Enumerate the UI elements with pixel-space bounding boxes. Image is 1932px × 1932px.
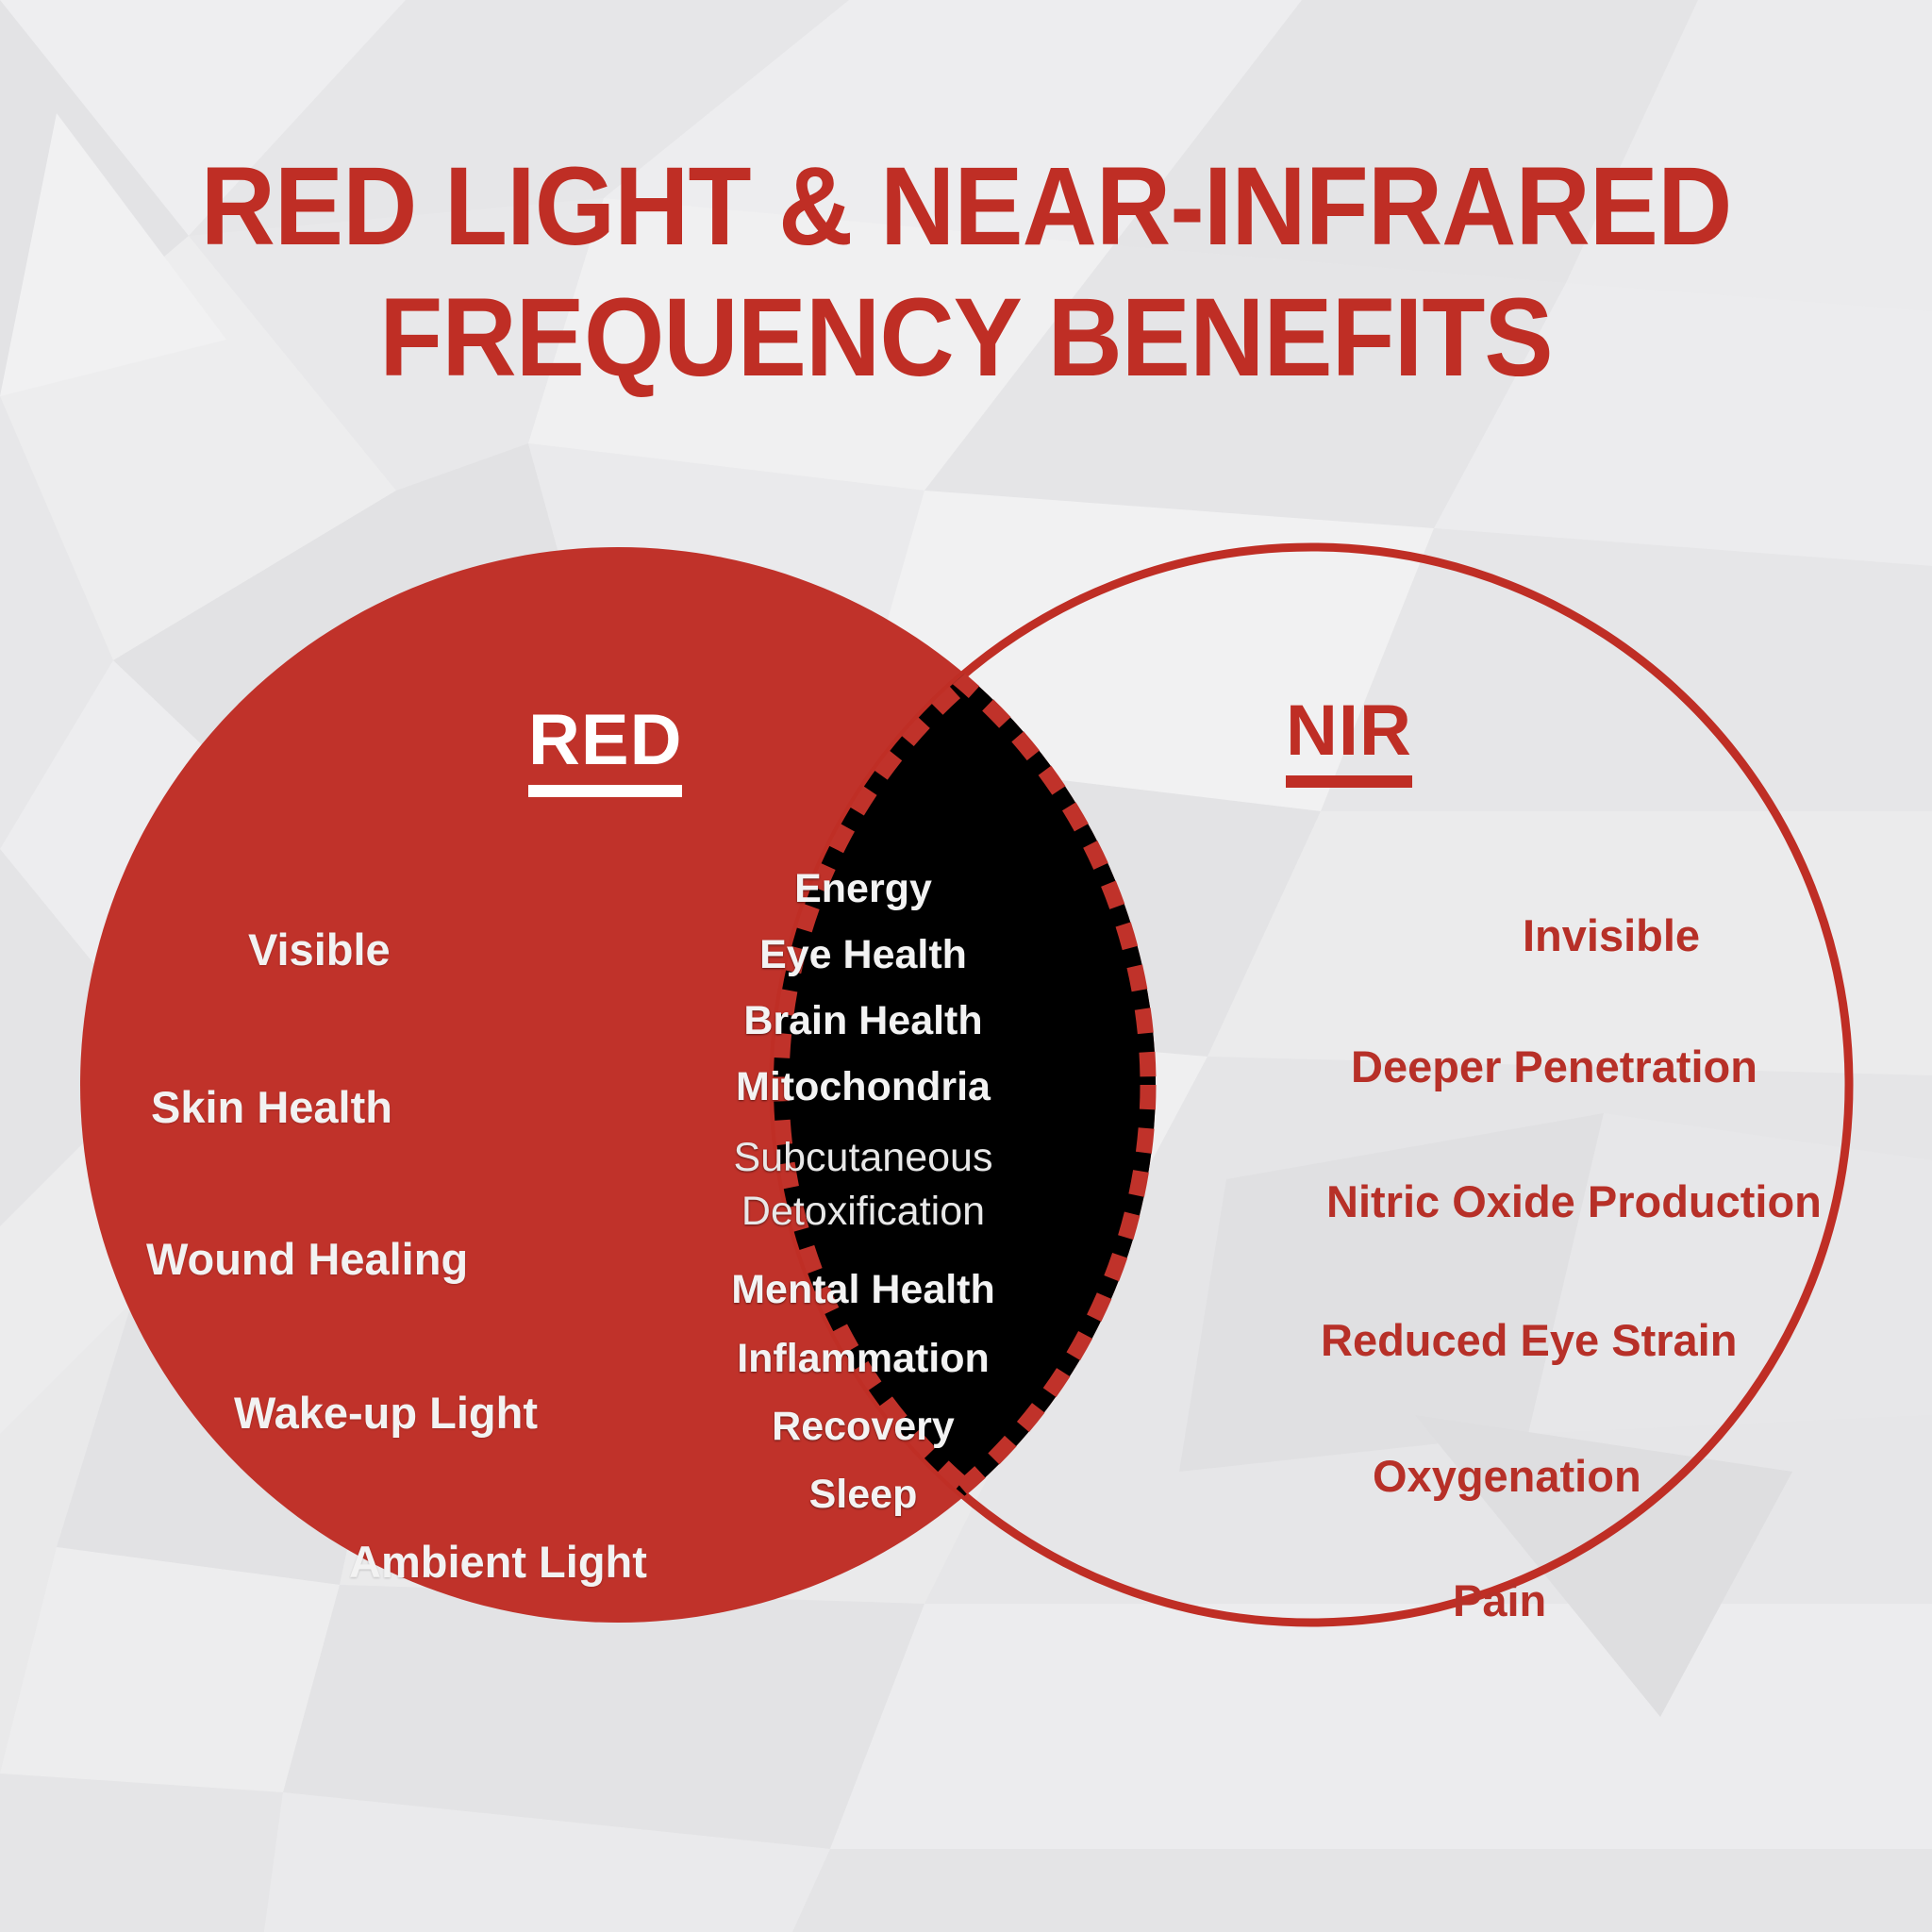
nir-header-underline [1286,775,1412,788]
overlap-item-recovery: Recovery [731,1406,995,1448]
overlap-item-mitochondria: Mitochondria [731,1066,995,1108]
red-item-visible: Visible [248,926,391,973]
red-item-wound-healing: Wound Healing [146,1236,468,1282]
diagram-labels: RED NIR Visible Skin Health Wound Healin… [0,0,1932,1932]
overlap-item-sleep: Sleep [731,1474,995,1516]
overlap-item-mental-health: Mental Health [731,1269,995,1311]
overlap-item-subcutaneous: Subcutaneous [731,1137,995,1179]
nir-item-pain: Pain [1453,1577,1546,1624]
nir-item-nitric-oxide-production: Nitric Oxide Production [1326,1178,1822,1224]
nir-header-text: NIR [1286,691,1412,771]
overlap-item-brain-health: Brain Health [731,1000,995,1042]
nir-item-reduced-eye-strain: Reduced Eye Strain [1321,1317,1737,1363]
overlap-item-inflammation: Inflammation [731,1338,995,1380]
nir-item-deeper-penetration: Deeper Penetration [1351,1043,1757,1090]
overlap-item-energy: Energy [731,868,995,910]
red-item-ambient-light: Ambient Light [349,1539,647,1585]
red-circle-header: RED [528,703,682,797]
nir-item-invisible: Invisible [1523,912,1700,958]
nir-item-oxygenation: Oxygenation [1373,1453,1641,1499]
overlap-item-eye-health: Eye Health [731,934,995,976]
red-item-skin-health: Skin Health [151,1084,392,1130]
red-header-underline [528,785,682,797]
nir-circle-header: NIR [1286,693,1412,788]
infographic-canvas: RED LIGHT & NEAR-INFRARED FREQUENCY BENE… [0,0,1932,1932]
red-header-text: RED [528,700,682,780]
red-item-wake-up-light: Wake-up Light [234,1390,538,1436]
overlap-item-detoxification: Detoxification [731,1191,995,1233]
